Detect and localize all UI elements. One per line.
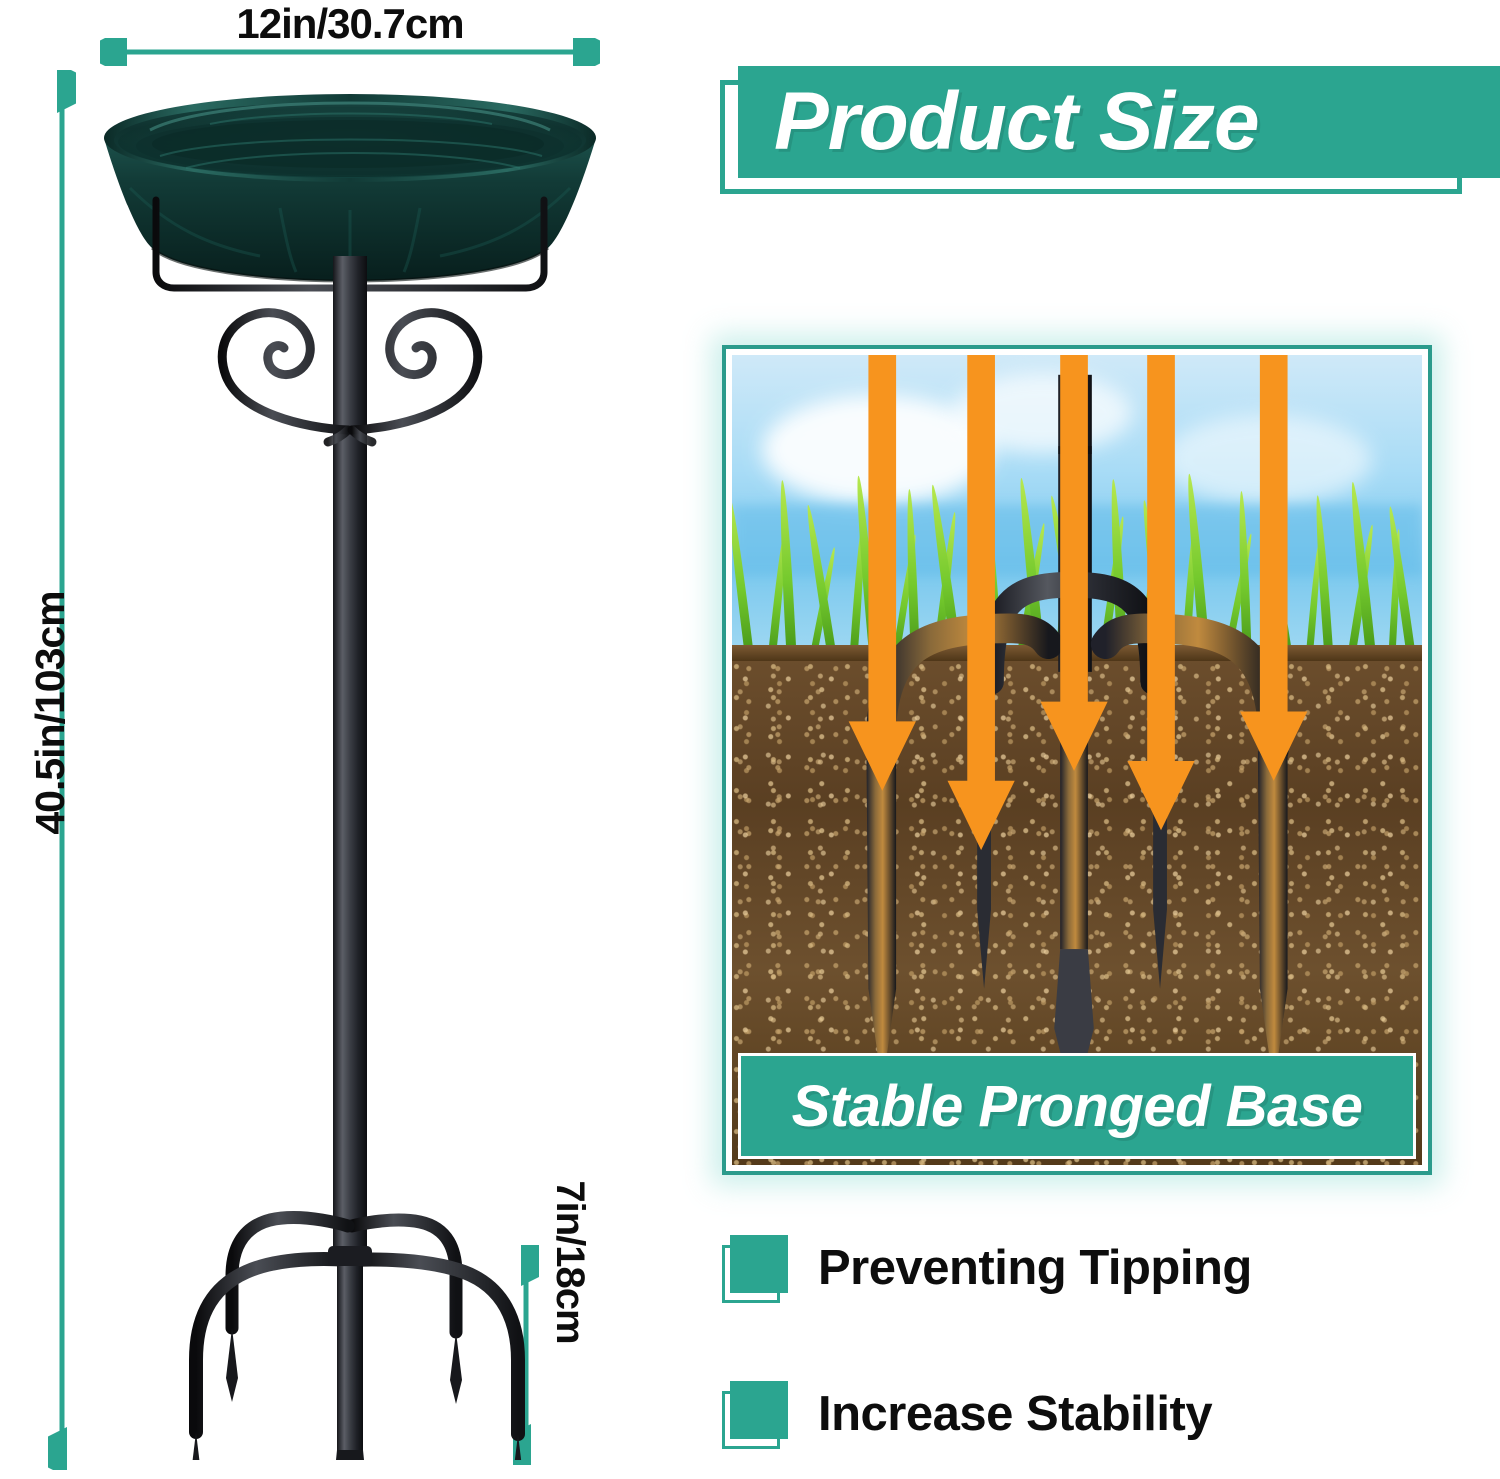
- bullet-fill-square: [730, 1235, 788, 1293]
- prong-diagram-overlay: [732, 355, 1422, 1165]
- product-size-banner: Product Size: [720, 66, 1500, 196]
- birdbath-bowl: [104, 94, 596, 281]
- stand-pole: [333, 256, 367, 1266]
- feature-list: Preventing Tipping Increase Stability: [722, 1222, 1482, 1462]
- bullet-marker: [722, 1233, 818, 1303]
- feature-label: Preventing Tipping: [818, 1240, 1252, 1296]
- feature-label: Increase Stability: [818, 1386, 1212, 1442]
- force-arrow-down: [1240, 355, 1307, 781]
- bullet-fill-square: [730, 1381, 788, 1439]
- force-arrow-down: [849, 355, 916, 791]
- bullet-marker: [722, 1379, 818, 1449]
- page-title: Product Size: [738, 66, 1500, 178]
- pronged-base-photo-card: Stable Pronged Base: [722, 345, 1432, 1175]
- feature-item: Increase Stability: [722, 1368, 1482, 1460]
- photo-caption: Stable Pronged Base: [738, 1053, 1416, 1159]
- birdbath-stand-illustration: [90, 60, 610, 1460]
- photo-scene: Stable Pronged Base: [732, 355, 1422, 1165]
- pronged-base: [189, 1218, 525, 1460]
- infographic-canvas: 12in/30.7cm: [0, 0, 1500, 1479]
- product-size-diagram: 12in/30.7cm: [0, 0, 700, 1479]
- force-arrow-down: [1040, 355, 1107, 771]
- height-dimension-label: 40.5in/103cm: [27, 523, 73, 903]
- right-column: Product Size: [700, 0, 1500, 1479]
- feature-item: Preventing Tipping: [722, 1222, 1482, 1314]
